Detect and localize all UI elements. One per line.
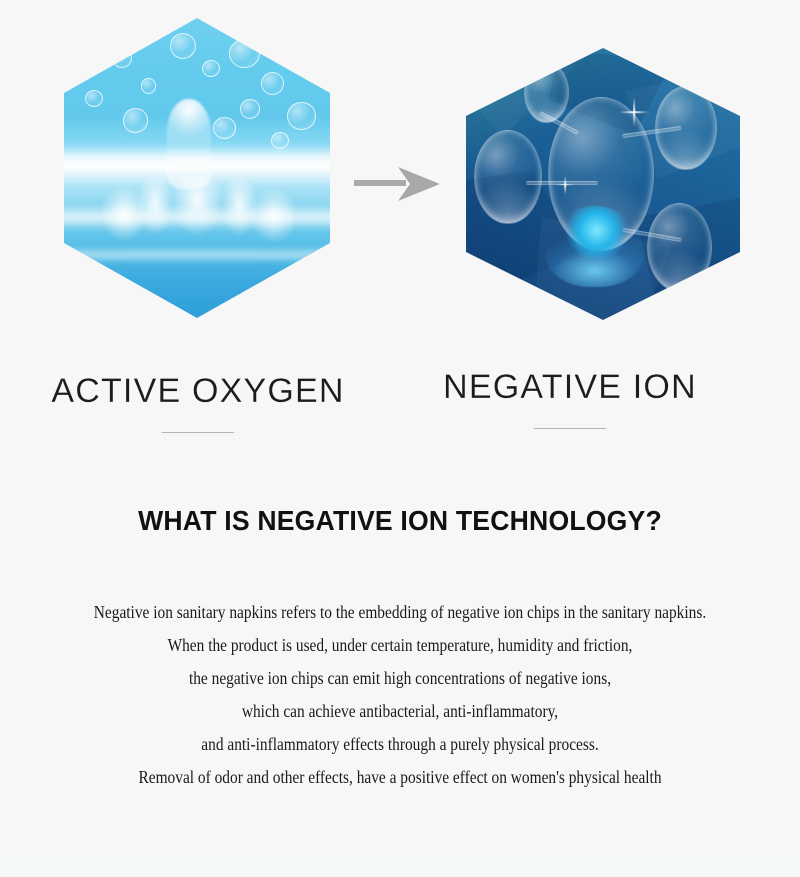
active-oxygen-label-block: ACTIVE OXYGEN (28, 374, 368, 433)
negative-ion-hexagon-image (466, 48, 740, 320)
ion-droplet-core (545, 206, 644, 288)
sparkle-icon (619, 97, 649, 127)
bubble-icon (141, 78, 156, 94)
hero-section: ACTIVE OXYGEN NEGATIVE ION (0, 0, 800, 460)
bubble-icon (287, 102, 316, 130)
splash-crown (101, 177, 293, 243)
active-oxygen-label: ACTIVE OXYGEN (28, 374, 368, 410)
bubble-icon (655, 86, 717, 170)
negative-ion-label: NEGATIVE ION (400, 370, 740, 406)
active-oxygen-hexagon-image (64, 18, 330, 318)
negative-ion-label-block: NEGATIVE ION (400, 370, 740, 429)
section-heading: WHAT IS NEGATIVE ION TECHNOLOGY? (20, 505, 780, 537)
bubble-icon (170, 33, 196, 59)
sparkle-icon (556, 176, 574, 194)
bubble-icon (123, 108, 149, 133)
paragraph-line: Negative ion sanitary napkins refers to … (48, 596, 752, 629)
paragraph-line: When the product is used, under certain … (48, 629, 752, 662)
bubble-icon (202, 60, 220, 77)
paragraph-line: which can achieve antibacterial, anti-in… (48, 695, 752, 728)
paragraph-line: the negative ion chips can emit high con… (48, 662, 752, 695)
paragraph-line: and anti-inflammatory effects through a … (48, 728, 752, 761)
product-info-page: ACTIVE OXYGEN NEGATIVE ION WHAT IS NEGAT… (0, 0, 800, 877)
description-paragraph: Negative ion sanitary napkins refers to … (0, 596, 800, 794)
bubble-icon (261, 72, 284, 95)
arrow-right-icon (352, 163, 444, 205)
label-divider (534, 428, 606, 429)
bubble-icon (213, 117, 236, 139)
paragraph-line: Removal of odor and other effects, have … (48, 761, 752, 794)
label-divider (162, 432, 234, 433)
bubble-icon (647, 203, 712, 292)
bubble-icon (240, 99, 261, 119)
water-droplet-column (166, 99, 211, 189)
bubble-icon (474, 130, 542, 224)
bubble-icon (85, 90, 103, 107)
bubble-icon (112, 48, 133, 68)
bubble-icon (229, 39, 260, 68)
waterline-band-tertiary (64, 246, 330, 264)
splash-graphic (64, 18, 330, 318)
